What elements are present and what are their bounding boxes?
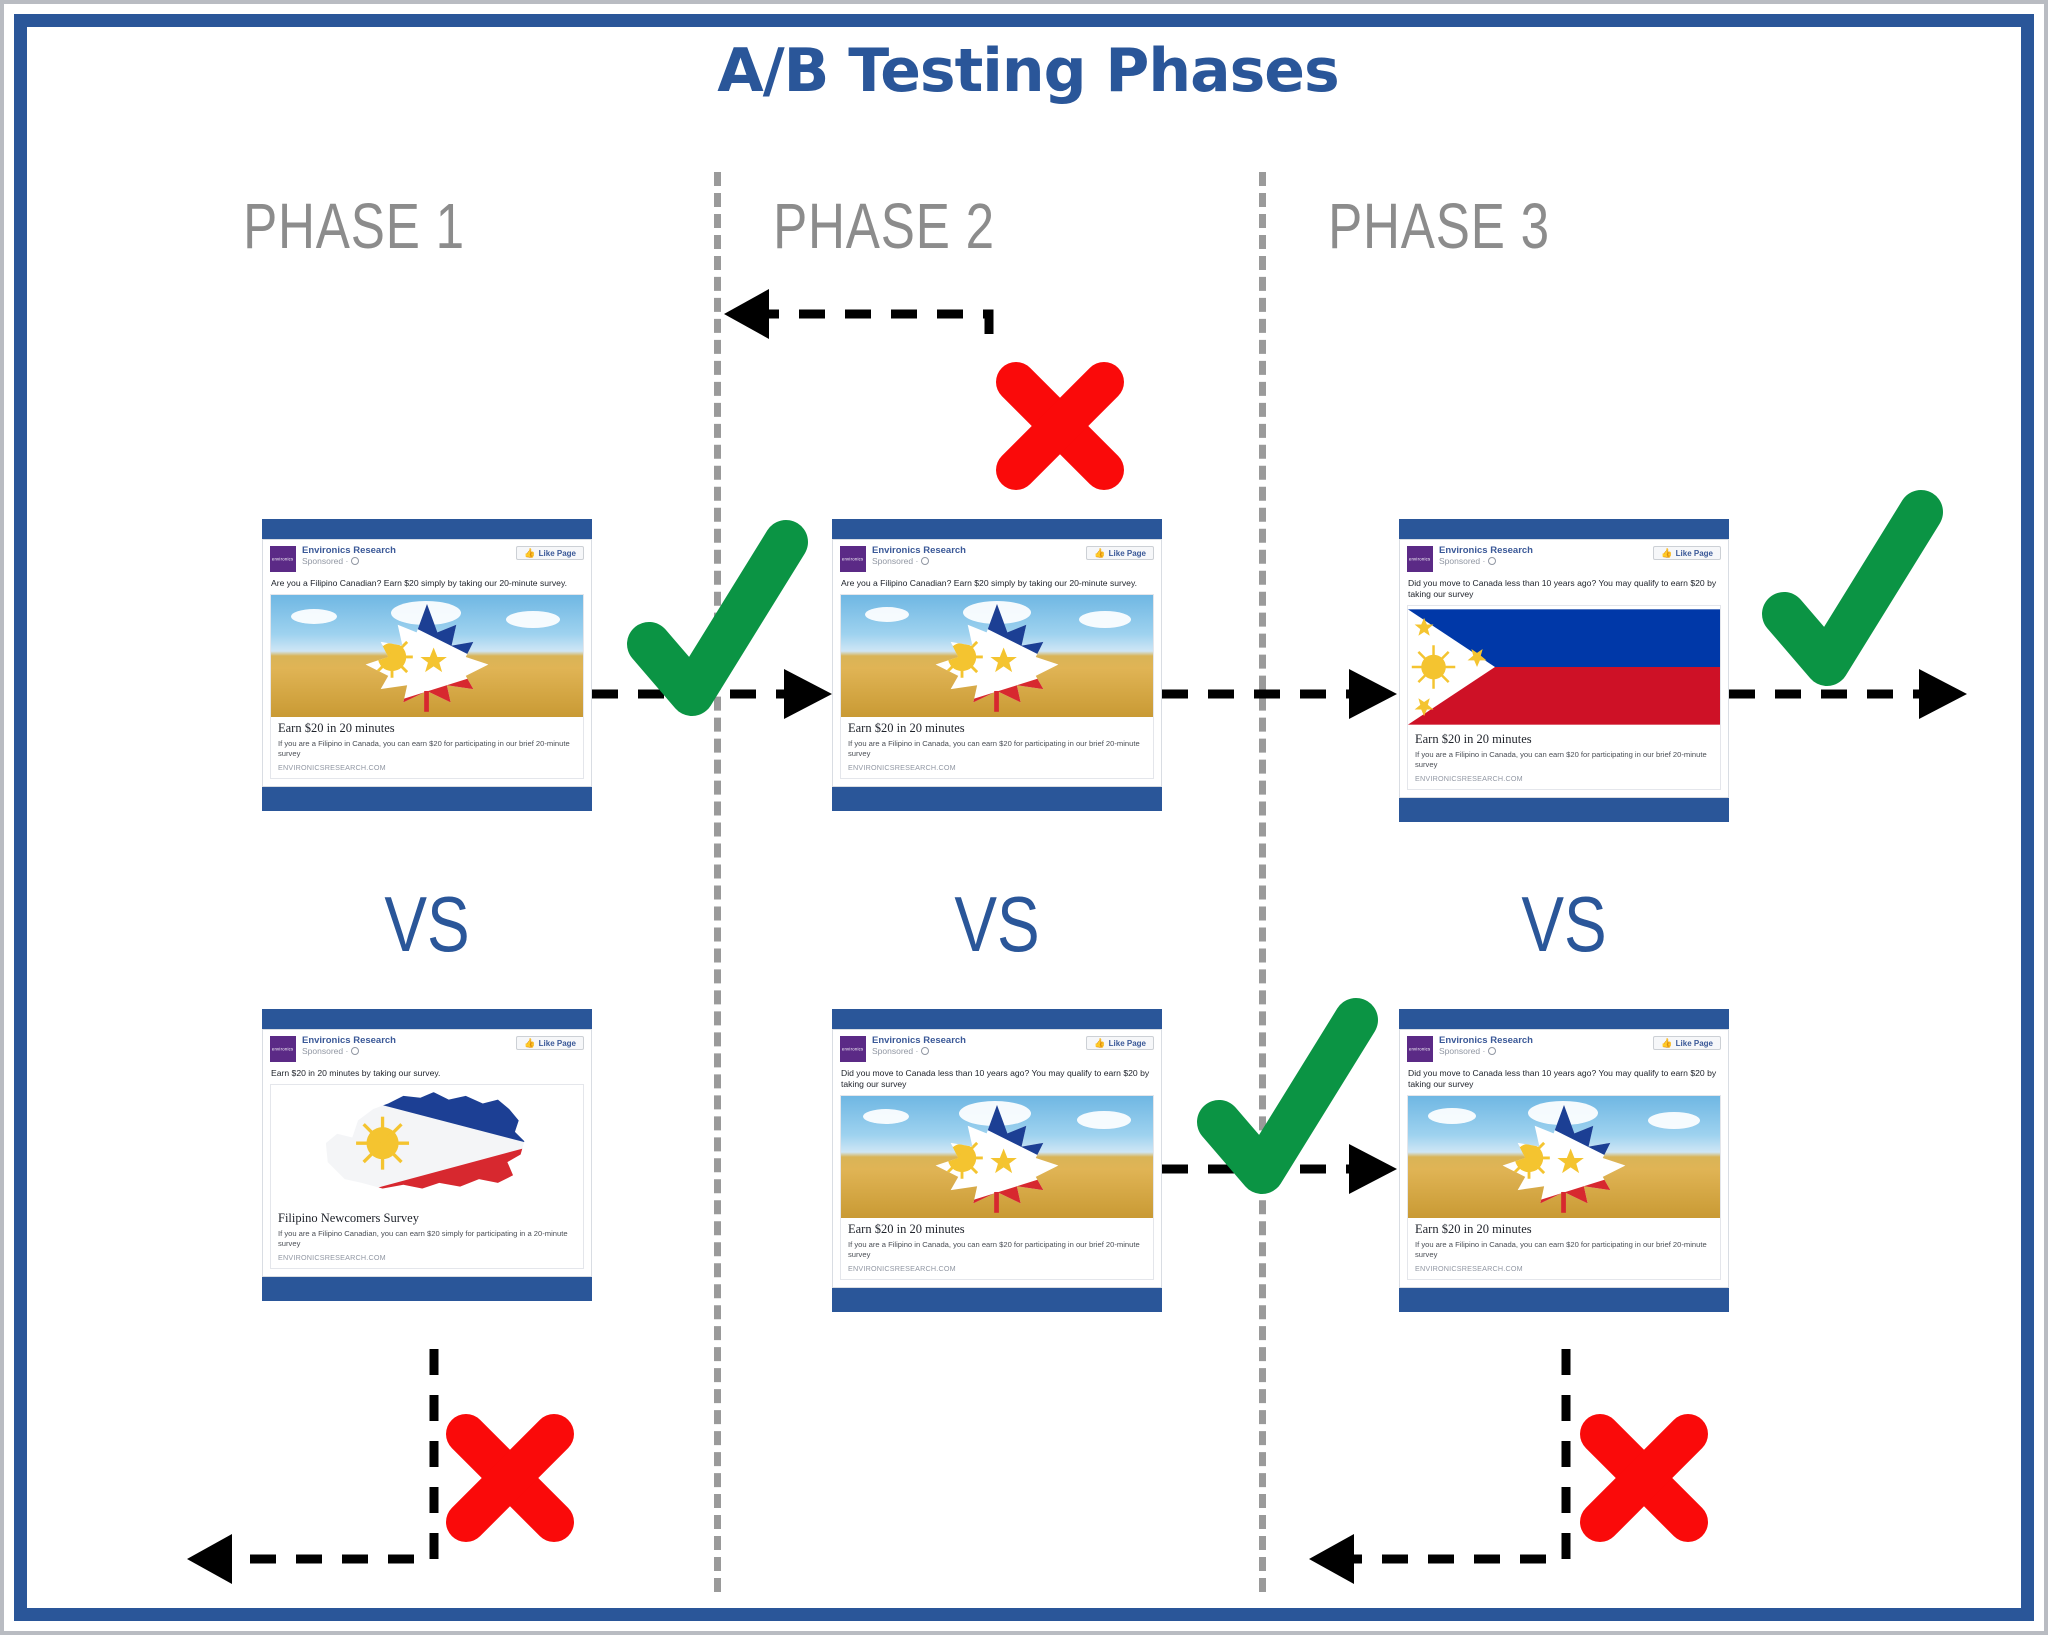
- page-name: Environics Research: [1439, 1036, 1647, 1046]
- card-header: environics Environics Research Sponsored…: [840, 546, 1154, 572]
- brand-logo: environics: [270, 546, 296, 572]
- ad-meta: Earn $20 in 20 minutes If you are a Fili…: [840, 717, 1154, 779]
- brand-logo-text: environics: [842, 557, 864, 562]
- vs-label-phase1: VS: [292, 879, 563, 970]
- ad-card-phase2-variant-a[interactable]: environics Environics Research Sponsored…: [832, 519, 1162, 811]
- globe-icon: [1488, 1047, 1496, 1055]
- thumbs-up-icon: 👍: [1661, 1038, 1672, 1049]
- vs-label-phase3: VS: [1429, 879, 1700, 970]
- like-page-button[interactable]: 👍Like Page: [1653, 546, 1721, 560]
- brand-logo-text: environics: [272, 557, 294, 562]
- brand-logo-text: environics: [272, 1047, 294, 1052]
- brand-logo: environics: [270, 1036, 296, 1062]
- ad-meta-url: ENVIRONICSRESEARCH.COM: [1415, 1264, 1713, 1273]
- card-header: environics Environics Research Sponsored…: [840, 1036, 1154, 1062]
- ad-card-phase3-variant-a[interactable]: environics Environics Research Sponsored…: [1399, 519, 1729, 822]
- ad-meta-desc: If you are a Filipino in Canada, you can…: [278, 739, 576, 759]
- brand-logo: environics: [1407, 546, 1433, 572]
- ad-body-text: Did you move to Canada less than 10 year…: [1408, 1068, 1720, 1090]
- card-topbar: [262, 519, 592, 539]
- page-name: Environics Research: [302, 1036, 510, 1046]
- sponsored-label: Sponsored ·: [1439, 557, 1647, 566]
- ad-meta-desc: If you are a Filipino in Canada, you can…: [848, 739, 1146, 759]
- ad-card-phase2-variant-b[interactable]: environics Environics Research Sponsored…: [832, 1009, 1162, 1312]
- maple-leaf-philippine-flag: [271, 595, 583, 717]
- ad-meta-desc: If you are a Filipino Canadian, you can …: [278, 1229, 576, 1249]
- thumbs-up-icon: 👍: [1094, 548, 1105, 559]
- maple-leaf-philippine-flag: [841, 595, 1153, 717]
- vs-label-phase2: VS: [862, 879, 1133, 970]
- page-name: Environics Research: [302, 546, 510, 556]
- infographic-canvas: A/B Testing Phases PHASE 1 PHASE 2 PHASE…: [0, 0, 2048, 1635]
- ad-image-canada-map: [270, 1084, 584, 1207]
- ad-body-text: Did you move to Canada less than 10 year…: [841, 1068, 1153, 1090]
- card-bottombar: [832, 787, 1162, 811]
- card-header-text: Environics Research Sponsored ·: [1439, 546, 1647, 566]
- ad-meta-desc: If you are a Filipino in Canada, you can…: [1415, 1240, 1713, 1260]
- like-page-button[interactable]: 👍Like Page: [1086, 1036, 1154, 1050]
- card-bottombar: [262, 787, 592, 811]
- page-title: A/B Testing Phases: [4, 36, 2048, 106]
- card-topbar: [1399, 1009, 1729, 1029]
- ad-meta: Earn $20 in 20 minutes If you are a Fili…: [1407, 1218, 1721, 1280]
- ad-meta-desc: If you are a Filipino in Canada, you can…: [848, 1240, 1146, 1260]
- ad-image-philippine-flag: [1407, 605, 1721, 728]
- ad-meta-url: ENVIRONICSRESEARCH.COM: [278, 1253, 576, 1262]
- ad-image-maple-leaf: [840, 1095, 1154, 1218]
- card-bottombar: [832, 1288, 1162, 1312]
- page-name: Environics Research: [1439, 546, 1647, 556]
- ad-image-maple-leaf: [1407, 1095, 1721, 1218]
- ad-meta-title: Earn $20 in 20 minutes: [1415, 1223, 1713, 1237]
- ad-meta: Earn $20 in 20 minutes If you are a Fili…: [270, 717, 584, 779]
- sponsored-label: Sponsored ·: [1439, 1047, 1647, 1056]
- phase-divider-2: [1259, 172, 1266, 1592]
- card-topbar: [262, 1009, 592, 1029]
- card-header-text: Environics Research Sponsored ·: [872, 546, 1080, 566]
- ad-meta-url: ENVIRONICSRESEARCH.COM: [1415, 774, 1713, 783]
- card-inner: environics Environics Research Sponsored…: [832, 539, 1162, 787]
- phase-divider-1: [714, 172, 721, 1592]
- ad-body-text: Earn $20 in 20 minutes by taking our sur…: [271, 1068, 583, 1079]
- ad-meta: Earn $20 in 20 minutes If you are a Fili…: [840, 1218, 1154, 1280]
- card-bottombar: [1399, 1288, 1729, 1312]
- ad-card-phase1-variant-b[interactable]: environics Environics Research Sponsored…: [262, 1009, 592, 1301]
- ad-meta: Filipino Newcomers Survey If you are a F…: [270, 1207, 584, 1269]
- card-header: environics Environics Research Sponsored…: [270, 1036, 584, 1062]
- sponsored-label: Sponsored ·: [872, 1047, 1080, 1056]
- ad-meta-url: ENVIRONICSRESEARCH.COM: [848, 1264, 1146, 1273]
- card-inner: environics Environics Research Sponsored…: [262, 539, 592, 787]
- globe-icon: [1488, 557, 1496, 565]
- card-inner: environics Environics Research Sponsored…: [832, 1029, 1162, 1288]
- card-inner: environics Environics Research Sponsored…: [1399, 539, 1729, 798]
- globe-icon: [921, 557, 929, 565]
- globe-icon: [921, 1047, 929, 1055]
- card-header: environics Environics Research Sponsored…: [270, 546, 584, 572]
- ad-meta-desc: If you are a Filipino in Canada, you can…: [1415, 750, 1713, 770]
- maple-leaf-philippine-flag: [1408, 1096, 1720, 1218]
- card-bottombar: [262, 1277, 592, 1301]
- card-topbar: [832, 1009, 1162, 1029]
- like-page-button[interactable]: 👍Like Page: [516, 1036, 584, 1050]
- card-bottombar: [1399, 798, 1729, 822]
- page-name: Environics Research: [872, 1036, 1080, 1046]
- like-page-button[interactable]: 👍Like Page: [1086, 546, 1154, 560]
- thumbs-up-icon: 👍: [524, 548, 535, 559]
- ad-meta-title: Earn $20 in 20 minutes: [848, 722, 1146, 736]
- like-page-button[interactable]: 👍Like Page: [516, 546, 584, 560]
- globe-icon: [351, 1047, 359, 1055]
- ad-meta-title: Earn $20 in 20 minutes: [278, 722, 576, 736]
- brand-logo: environics: [840, 1036, 866, 1062]
- card-inner: environics Environics Research Sponsored…: [1399, 1029, 1729, 1288]
- card-topbar: [1399, 519, 1729, 539]
- page-name: Environics Research: [872, 546, 1080, 556]
- card-header: environics Environics Research Sponsored…: [1407, 546, 1721, 572]
- card-header: environics Environics Research Sponsored…: [1407, 1036, 1721, 1062]
- ad-meta-url: ENVIRONICSRESEARCH.COM: [278, 763, 576, 772]
- ad-body-text: Are you a Filipino Canadian? Earn $20 si…: [841, 578, 1153, 589]
- ad-meta-url: ENVIRONICSRESEARCH.COM: [848, 763, 1146, 772]
- brand-logo: environics: [840, 546, 866, 572]
- thumbs-up-icon: 👍: [1661, 548, 1672, 559]
- thumbs-up-icon: 👍: [524, 1038, 535, 1049]
- like-page-button[interactable]: 👍Like Page: [1653, 1036, 1721, 1050]
- thumbs-up-icon: 👍: [1094, 1038, 1105, 1049]
- philippine-flag: [1408, 606, 1720, 728]
- ad-meta-title: Earn $20 in 20 minutes: [848, 1223, 1146, 1237]
- ad-body-text: Did you move to Canada less than 10 year…: [1408, 578, 1720, 600]
- brand-logo-text: environics: [1409, 1047, 1431, 1052]
- ad-image-maple-leaf: [840, 594, 1154, 717]
- ad-card-phase1-variant-a[interactable]: environics Environics Research Sponsored…: [262, 519, 592, 811]
- globe-icon: [351, 557, 359, 565]
- brand-logo-text: environics: [1409, 557, 1431, 562]
- maple-leaf-philippine-flag: [841, 1096, 1153, 1218]
- ad-meta-title: Earn $20 in 20 minutes: [1415, 733, 1713, 747]
- ad-image-maple-leaf: [270, 594, 584, 717]
- brand-logo-text: environics: [842, 1047, 864, 1052]
- card-header-text: Environics Research Sponsored ·: [302, 546, 510, 566]
- brand-logo: environics: [1407, 1036, 1433, 1062]
- phase-label-3: PHASE 3: [1271, 189, 1607, 263]
- card-header-text: Environics Research Sponsored ·: [302, 1036, 510, 1056]
- phase-label-1: PHASE 1: [186, 189, 522, 263]
- ad-meta: Earn $20 in 20 minutes If you are a Fili…: [1407, 728, 1721, 790]
- card-inner: environics Environics Research Sponsored…: [262, 1029, 592, 1277]
- ad-meta-title: Filipino Newcomers Survey: [278, 1212, 576, 1226]
- canada-map-philippine-flag: [271, 1085, 583, 1207]
- sponsored-label: Sponsored ·: [872, 557, 1080, 566]
- card-topbar: [832, 519, 1162, 539]
- phase-label-2: PHASE 2: [716, 189, 1052, 263]
- card-header-text: Environics Research Sponsored ·: [1439, 1036, 1647, 1056]
- card-header-text: Environics Research Sponsored ·: [872, 1036, 1080, 1056]
- sponsored-label: Sponsored ·: [302, 1047, 510, 1056]
- ad-body-text: Are you a Filipino Canadian? Earn $20 si…: [271, 578, 583, 589]
- ad-card-phase3-variant-b[interactable]: environics Environics Research Sponsored…: [1399, 1009, 1729, 1312]
- sponsored-label: Sponsored ·: [302, 557, 510, 566]
